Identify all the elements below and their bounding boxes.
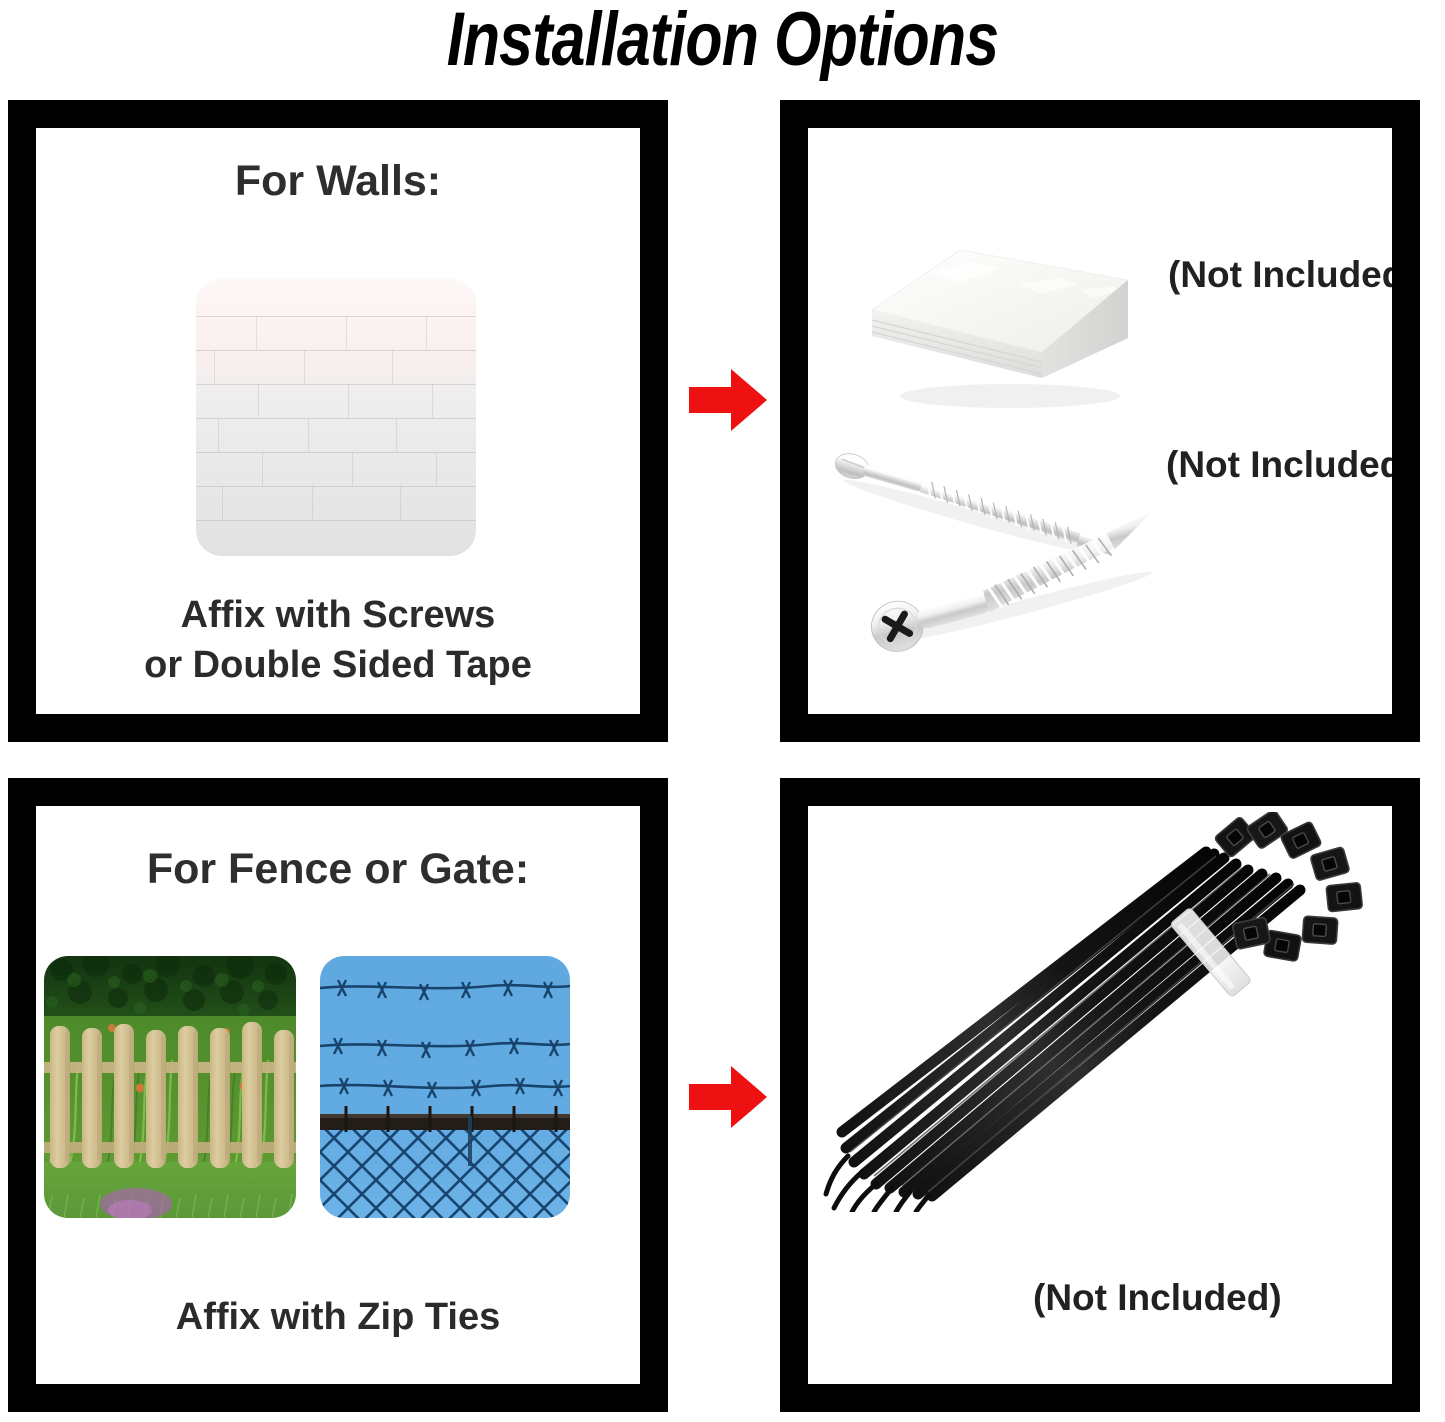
panel-for-walls-caption: Affix with Screws or Double Sided Tape [36, 590, 640, 690]
panel-wall-hardware: (Not Included) [780, 100, 1420, 742]
zip-ties-not-included-note: (Not Included) [1033, 1276, 1282, 1320]
picket-fence-illustration [44, 956, 296, 1218]
wooden-picket-fence-photo [44, 956, 296, 1218]
arrow-fence-to-hardware [687, 1062, 769, 1132]
tape-not-included-note: (Not Included) [1168, 253, 1392, 297]
right-arrow-icon [687, 365, 769, 435]
screws-illustration [826, 448, 1206, 668]
caption-line-2: or Double Sided Tape [36, 640, 640, 690]
panel-for-fence-content: For Fence or Gate: [36, 806, 640, 1384]
zip-ties-illustration [818, 812, 1378, 1212]
panel-for-walls-heading: For Walls: [36, 156, 640, 206]
arrow-walls-to-hardware [687, 365, 769, 435]
screws-not-included-note: (Not Included) [1166, 443, 1392, 487]
panel-for-fence-heading: For Fence or Gate: [36, 844, 640, 894]
panel-wall-hardware-content: (Not Included) [808, 128, 1392, 714]
tape-stack-illustration [850, 228, 1150, 418]
panel-for-walls-content: For Walls: [36, 128, 640, 714]
black-zip-tie-bundle [818, 812, 1378, 1212]
panel-for-fence-caption: Affix with Zip Ties [36, 1292, 640, 1342]
page-title: Installation Options [145, 0, 1301, 84]
panel-for-walls: For Walls: [8, 100, 668, 742]
double-sided-tape-stack [850, 228, 1150, 418]
right-arrow-icon [687, 1062, 769, 1132]
white-brick-wall-swatch [196, 278, 476, 556]
panel-for-fence-or-gate: For Fence or Gate: [8, 778, 668, 1412]
silver-wood-screws [826, 448, 1206, 668]
caption-line-1: Affix with Screws [36, 590, 640, 640]
chain-link-barbed-wire-fence-photo [320, 956, 570, 1218]
panel-fence-hardware-content: (Not Included) [808, 806, 1392, 1384]
panel-fence-hardware: (Not Included) [780, 778, 1420, 1412]
chain-link-fence-illustration [320, 956, 570, 1218]
